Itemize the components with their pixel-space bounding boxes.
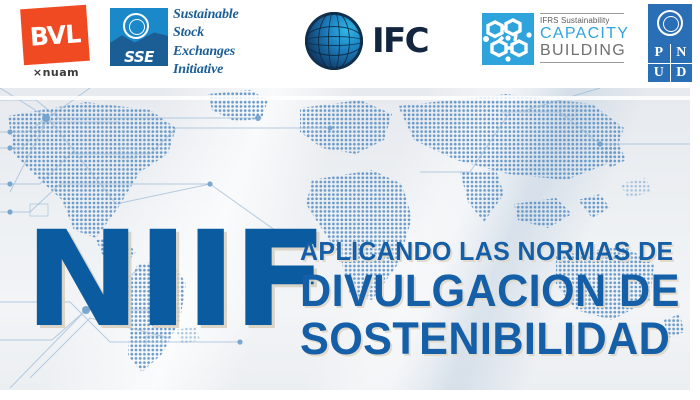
ifrs-hex-network-icon	[482, 13, 534, 65]
subheadline-line-1: APLICANDO LAS NORMAS DE	[300, 238, 676, 265]
banner-page: BVL ×nuam SSE Sustainable Stock Exchange…	[0, 0, 700, 400]
logo-sse: SSE Sustainable Stock Exchanges Initiati…	[110, 6, 265, 76]
ifrs-line-2: CAPACITY	[540, 26, 624, 43]
headline-layer: NIIF APLICANDO LAS NORMAS DE DIVULGACION…	[0, 88, 690, 390]
pnud-letter-u: U	[648, 64, 670, 83]
subheadline-block: APLICANDO LAS NORMAS DE DIVULGACION DE S…	[300, 238, 690, 362]
un-emblem-icon	[657, 10, 683, 36]
bvl-wordmark: BVL	[20, 5, 90, 65]
logo-ifc: IFC	[305, 8, 445, 74]
bottom-margin	[0, 390, 700, 400]
sse-line-3: Initiative	[173, 61, 265, 79]
ifrs-rule-top	[540, 13, 624, 14]
ifrs-wordmark: IFRS Sustainability CAPACITY BUILDING	[540, 13, 624, 63]
un-emblem-icon	[123, 13, 149, 39]
pnud-emblem-panel	[648, 4, 692, 44]
sse-line-1: Sustainable	[173, 6, 265, 24]
pnud-letter-d: D	[671, 64, 693, 83]
subheadline-line-2: DIVULGACION DE	[300, 267, 676, 314]
ifrs-rule-bottom	[540, 62, 624, 63]
sse-wordmark: Sustainable Stock Exchanges Initiative	[173, 6, 265, 80]
pnud-letter-p: P	[648, 44, 670, 63]
logo-pnud: P N U D	[648, 4, 692, 82]
bvl-nuam-tagline: ×nuam	[8, 66, 104, 79]
logo-bvl: BVL ×nuam	[8, 2, 104, 86]
page-title-acronym: NIIF	[24, 226, 324, 334]
pnud-letter-grid: P N U D	[648, 44, 692, 82]
pnud-letter-n: N	[671, 44, 693, 63]
ifrs-line-1: IFRS Sustainability	[540, 16, 624, 25]
right-margin	[690, 88, 700, 390]
sse-mark: SSE	[110, 8, 168, 66]
globe-icon	[305, 12, 363, 70]
subheadline-line-3: SOSTENIBILIDAD	[300, 315, 676, 362]
partner-logo-bar: BVL ×nuam SSE Sustainable Stock Exchange…	[0, 0, 700, 88]
hero-banner: NIIF APLICANDO LAS NORMAS DE DIVULGACION…	[0, 88, 690, 390]
sse-abbr: SSE	[110, 49, 168, 66]
ifc-wordmark: IFC	[372, 21, 428, 61]
logo-ifrs-capacity-building: IFRS Sustainability CAPACITY BUILDING	[482, 9, 622, 75]
sse-line-2: Stock Exchanges	[173, 24, 265, 61]
ifrs-line-3: BUILDING	[540, 43, 624, 60]
